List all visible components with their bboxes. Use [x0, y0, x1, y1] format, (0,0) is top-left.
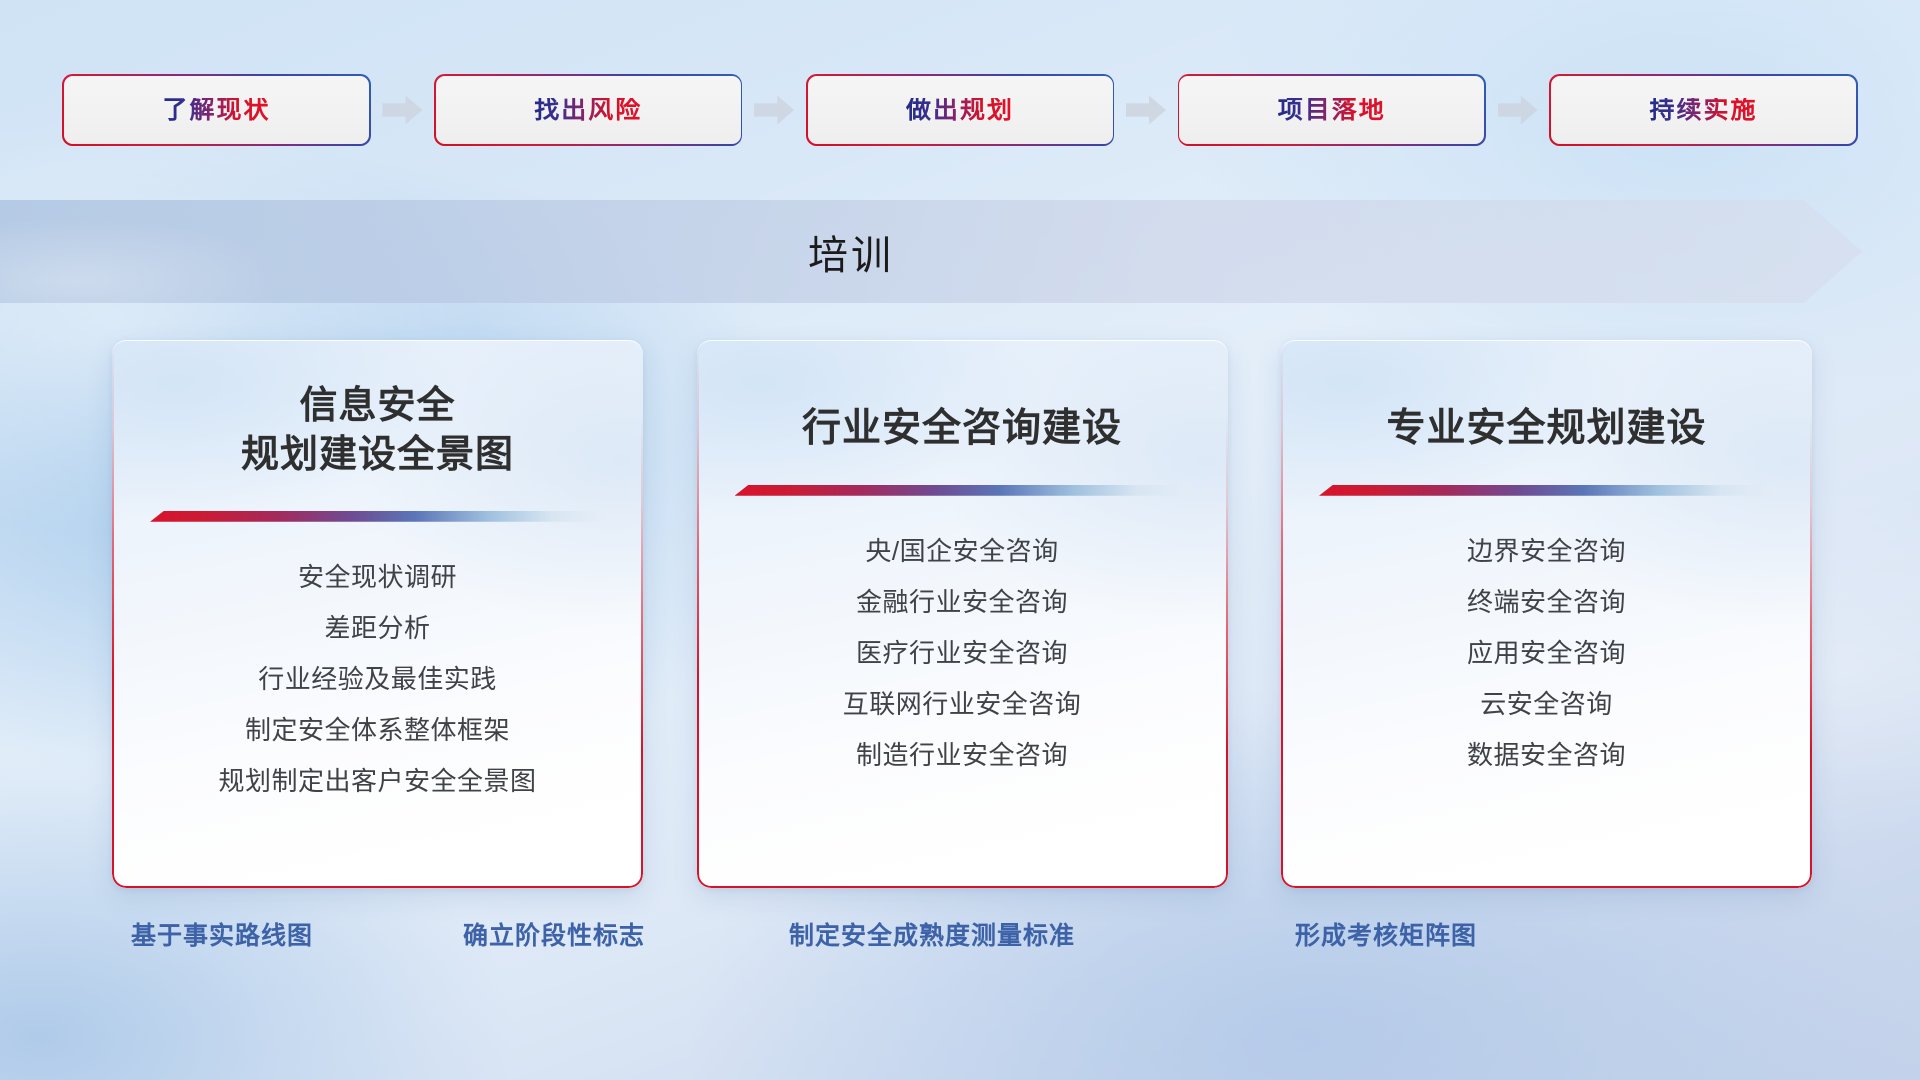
footer-caption-3: 形成考核矩阵图 [1295, 916, 1477, 952]
card-group: 信息安全 规划建设全景图 安全现状调研 差距分析 行业经验及最佳实践 制定安全体… [112, 340, 1812, 890]
card-divider [735, 485, 1192, 496]
step-arrow-icon-3 [1498, 95, 1538, 125]
training-band-label: 培训 [808, 223, 894, 281]
list-item: 云安全咨询 [1480, 683, 1613, 725]
list-item: 安全现状调研 [298, 556, 457, 598]
step-chip-label: 做出规划 [906, 98, 1014, 123]
footer-caption-1: 确立阶段性标志 [463, 916, 645, 952]
card-title: 信息安全 规划建设全景图 [142, 382, 613, 481]
card-item-list: 安全现状调研 差距分析 行业经验及最佳实践 制定安全体系整体框架 规划制定出客户… [142, 556, 613, 803]
step-chip-label: 了解现状 [162, 98, 270, 123]
step-arrow-icon-0 [382, 95, 422, 125]
card-professional-security-planning[interactable]: 专业安全规划建设 边界安全咨询 终端安全咨询 应用安全咨询 云安全咨询 数据安全… [1281, 340, 1812, 888]
step-chip-4[interactable]: 持续实施 [1551, 76, 1856, 144]
step-chip-label: 找出风险 [534, 98, 642, 123]
card-item-list: 边界安全咨询 终端安全咨询 应用安全咨询 云安全咨询 数据安全咨询 [1311, 530, 1782, 777]
list-item: 制定安全体系整体框架 [245, 709, 510, 751]
footer-caption-2: 制定安全成熟度测量标准 [789, 916, 1075, 952]
list-item: 数据安全咨询 [1467, 734, 1626, 776]
list-item: 应用安全咨询 [1467, 632, 1626, 674]
step-chip-label: 项目落地 [1278, 98, 1386, 123]
list-item: 互联网行业安全咨询 [843, 683, 1082, 725]
list-item: 边界安全咨询 [1467, 530, 1626, 572]
card-divider [1319, 485, 1776, 496]
step-arrow-icon-1 [754, 95, 794, 125]
card-industry-security-consulting[interactable]: 行业安全咨询建设 央/国企安全咨询 金融行业安全咨询 医疗行业安全咨询 互联网行… [697, 340, 1228, 888]
card-item-list: 央/国企安全咨询 金融行业安全咨询 医疗行业安全咨询 互联网行业安全咨询 制造行… [727, 530, 1198, 777]
step-arrow-icon-2 [1126, 95, 1166, 125]
card-info-security-panorama[interactable]: 信息安全 规划建设全景图 安全现状调研 差距分析 行业经验及最佳实践 制定安全体… [112, 340, 643, 888]
card-title: 专业安全规划建设 [1311, 404, 1782, 455]
step-chip-label: 持续实施 [1649, 98, 1757, 123]
card-divider [150, 511, 607, 522]
list-item: 差距分析 [324, 607, 430, 649]
step-chip-1[interactable]: 找出风险 [436, 76, 741, 144]
training-arrow-band: 培训 [0, 200, 1862, 303]
list-item: 制造行业安全咨询 [856, 734, 1068, 776]
slide-canvas: 了解现状 找出风险 做出规划 项目落地 持续实施 培训 信息安全 规划建设全景图… [0, 0, 1920, 1080]
card-title: 行业安全咨询建设 [727, 404, 1198, 455]
step-chip-3[interactable]: 项目落地 [1179, 76, 1484, 144]
list-item: 央/国企安全咨询 [865, 530, 1058, 572]
list-item: 金融行业安全咨询 [856, 581, 1068, 623]
process-step-bar: 了解现状 找出风险 做出规划 项目落地 持续实施 [64, 76, 1856, 144]
list-item: 终端安全咨询 [1467, 581, 1626, 623]
step-chip-2[interactable]: 做出规划 [808, 76, 1113, 144]
list-item: 医疗行业安全咨询 [856, 632, 1068, 674]
list-item: 行业经验及最佳实践 [258, 658, 497, 700]
footer-caption-0: 基于事实路线图 [131, 916, 313, 952]
list-item: 规划制定出客户安全全景图 [218, 760, 536, 802]
step-chip-0[interactable]: 了解现状 [64, 76, 369, 144]
footer-caption-row: 基于事实路线图 确立阶段性标志 制定安全成熟度测量标准 形成考核矩阵图 [0, 916, 1920, 960]
